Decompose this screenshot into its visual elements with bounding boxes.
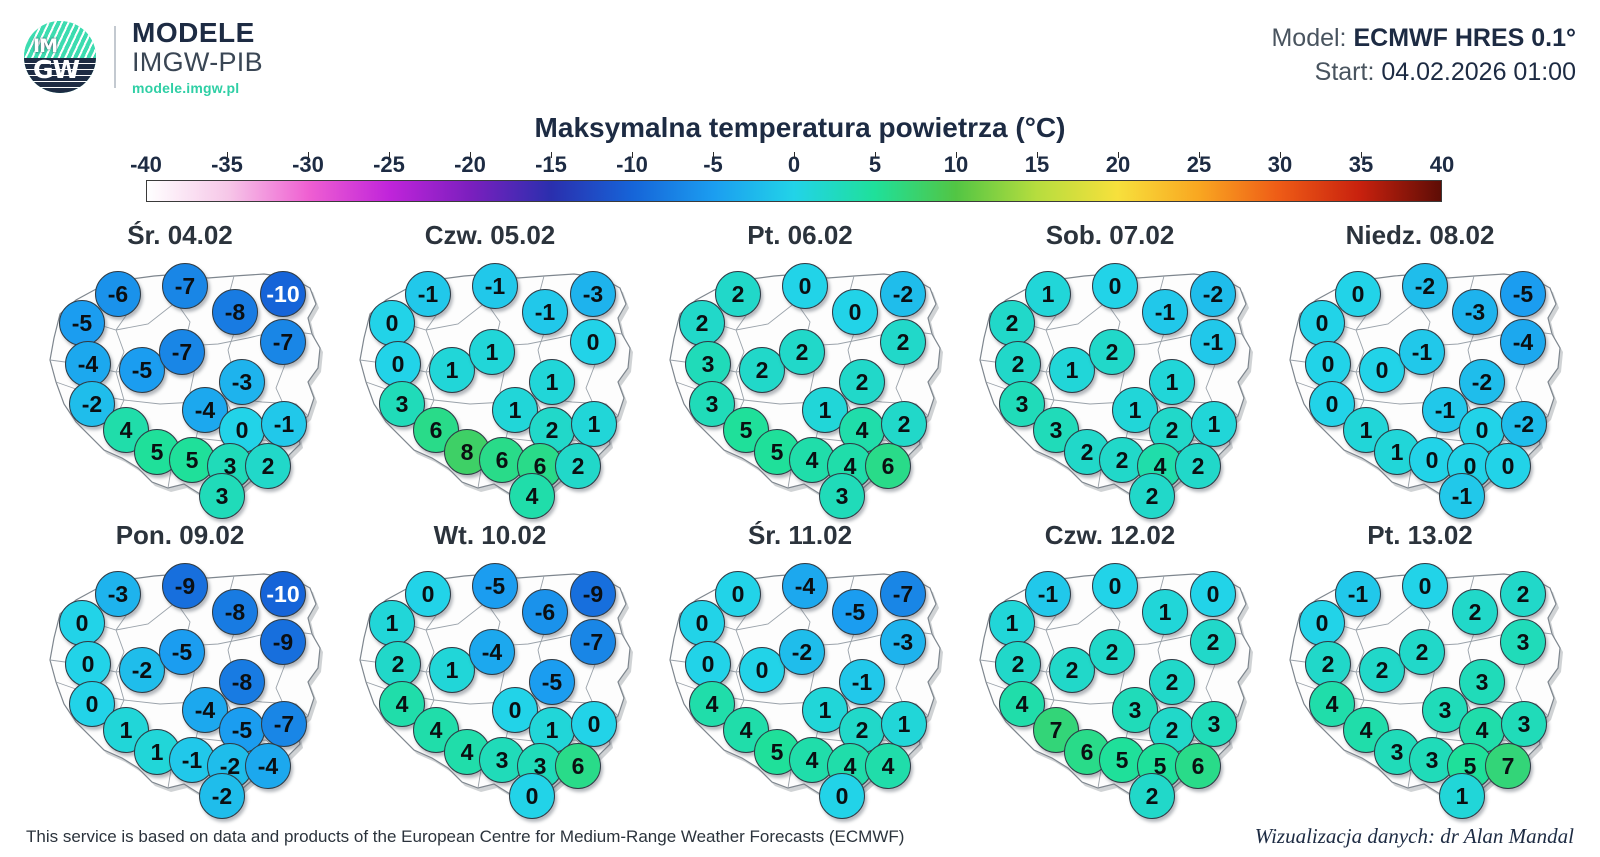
temperature-marker[interactable]: 2 [779, 329, 825, 375]
forecast-panel: Pt. 13.02-10202322234343433571 [1260, 518, 1580, 808]
temperature-marker[interactable]: 0 [1190, 571, 1236, 617]
colorbar-tickmark [956, 152, 957, 158]
temperature-marker[interactable]: 2 [880, 319, 926, 365]
temperature-marker[interactable]: 1 [469, 329, 515, 375]
colorbar-tick: -40 [130, 152, 162, 178]
temperature-marker[interactable]: 2 [1305, 641, 1351, 687]
forecast-panel: Niedz. 08.020-2-50-3-400-1-20-10-211000-… [1260, 218, 1580, 508]
panel-day-title: Czw. 05.02 [330, 218, 650, 252]
footer-visualization-credit: Wizualizacja danych: dr Alan Mandal [1255, 824, 1574, 849]
temperature-marker[interactable]: 2 [715, 271, 761, 317]
panel-day-title: Śr. 11.02 [640, 518, 960, 552]
temperature-marker[interactable]: -5 [59, 300, 105, 346]
poland-map: -10011222224323765562 [950, 552, 1270, 802]
temperature-marker[interactable]: 6 [1175, 743, 1221, 789]
imgw-circle-logo-icon: IM GW [24, 21, 96, 93]
poland-map: -6-7-10-5-8-7-4-5-7-3-2-40-1455323 [20, 252, 340, 502]
temperature-marker[interactable]: -2 [1402, 263, 1448, 309]
temperature-marker[interactable]: 2 [881, 401, 927, 447]
temperature-marker[interactable]: -9 [162, 563, 208, 609]
poland-map: -1-1-30-1001113121686624 [330, 252, 650, 502]
temperature-marker[interactable]: 0 [1305, 341, 1351, 387]
temperature-marker[interactable]: 1 [369, 600, 415, 646]
temperature-marker[interactable]: 0 [59, 600, 105, 646]
temperature-marker[interactable]: -3 [1452, 289, 1498, 335]
temperature-marker[interactable]: 0 [715, 571, 761, 617]
colorbar-tickmark [875, 152, 876, 158]
panel-day-title: Niedz. 08.02 [1260, 218, 1580, 252]
poland-map: 0-2-50-3-400-1-20-10-211000-1 [1260, 252, 1580, 502]
temperature-marker[interactable]: -2 [199, 773, 245, 819]
panel-day-title: Sob. 07.02 [950, 218, 1270, 252]
colorbar-tickmark [632, 152, 633, 158]
temperature-marker[interactable]: 2 [1129, 773, 1175, 819]
temperature-marker[interactable]: -2 [1501, 401, 1547, 447]
colorbar-tickmark [1199, 152, 1200, 158]
temperature-marker[interactable]: -10 [260, 271, 306, 317]
temperature-marker[interactable]: 4 [509, 473, 555, 519]
poland-map: 0-5-91-6-721-4-54010443360 [330, 552, 650, 802]
temperature-marker[interactable]: 3 [199, 473, 245, 519]
temperature-marker[interactable]: 0 [679, 600, 725, 646]
temperature-marker[interactable]: -2 [1459, 359, 1505, 405]
temperature-marker[interactable]: 1 [529, 359, 575, 405]
temperature-marker[interactable]: -1 [1399, 329, 1445, 375]
colorbar-tickmark [227, 152, 228, 158]
temperature-marker[interactable]: 0 [1335, 271, 1381, 317]
temperature-marker[interactable]: 3 [1500, 619, 1546, 665]
colorbar-tickmark [389, 152, 390, 158]
temperature-marker[interactable]: 3 [685, 341, 731, 387]
temperature-marker[interactable]: -8 [219, 659, 265, 705]
temperature-marker[interactable]: -3 [95, 571, 141, 617]
temperature-marker[interactable]: 0 [685, 641, 731, 687]
start-label: Start: [1315, 58, 1375, 86]
temperature-marker[interactable]: -7 [162, 263, 208, 309]
temperature-marker[interactable]: -5 [159, 629, 205, 675]
temperature-marker[interactable]: 6 [555, 743, 601, 789]
temperature-marker[interactable]: -3 [219, 359, 265, 405]
temperature-marker[interactable]: 0 [65, 641, 111, 687]
colorbar-tickmark [1037, 152, 1038, 158]
forecast-panel: Czw. 05.02-1-1-30-1001113121686624 [330, 218, 650, 508]
colorbar-tickmark [713, 152, 714, 158]
temperature-marker[interactable]: -7 [570, 619, 616, 665]
panel-day-title: Czw. 12.02 [950, 518, 1270, 552]
model-metadata: Model: ECMWF HRES 0.1° Start: 04.02.2026… [1271, 22, 1576, 90]
temperature-marker[interactable]: 3 [1501, 701, 1547, 747]
temperature-marker[interactable]: 1 [989, 600, 1035, 646]
temperature-marker[interactable]: 2 [839, 359, 885, 405]
poland-map: 0-4-70-5-300-2-14121454440 [640, 552, 960, 802]
temperature-marker[interactable]: -2 [1190, 271, 1236, 317]
colorbar-tickmark [308, 152, 309, 158]
temperature-marker[interactable]: 0 [571, 701, 617, 747]
colorbar-tick: 40 [1430, 152, 1454, 178]
temperature-marker[interactable]: 2 [679, 300, 725, 346]
temperature-marker[interactable]: 2 [1089, 329, 1135, 375]
temperature-marker[interactable]: 2 [1149, 659, 1195, 705]
temperature-marker[interactable]: -1 [1025, 571, 1071, 617]
temperature-marker[interactable]: -1 [472, 263, 518, 309]
temperature-marker[interactable]: -4 [469, 629, 515, 675]
temperature-marker[interactable]: -1 [522, 289, 568, 335]
temperature-marker[interactable]: 2 [1190, 619, 1236, 665]
temperature-marker[interactable]: 4 [865, 743, 911, 789]
start-row: Start: 04.02.2026 01:00 [1271, 56, 1576, 90]
poland-map: 20-220232223142554463 [640, 252, 960, 502]
temperature-marker[interactable]: -7 [159, 329, 205, 375]
forecast-panel: Pon. 09.02-3-9-100-8-90-2-5-80-4-5-711-1… [20, 518, 340, 808]
forecast-panel: Czw. 12.02-10011222224323765562 [950, 518, 1270, 808]
logo-badge-im-text: IM [33, 35, 57, 57]
temperature-marker[interactable]: -1 [1142, 289, 1188, 335]
temperature-marker[interactable]: 0 [832, 289, 878, 335]
model-label: Model: [1271, 24, 1346, 52]
temperature-marker[interactable]: 2 [1452, 589, 1498, 635]
model-row: Model: ECMWF HRES 0.1° [1271, 22, 1576, 56]
panel-day-title: Wt. 10.02 [330, 518, 650, 552]
panel-day-title: Pt. 06.02 [640, 218, 960, 252]
temperature-marker[interactable]: 0 [509, 773, 555, 819]
temperature-marker[interactable]: -1 [1439, 473, 1485, 519]
temperature-marker[interactable]: 1 [1149, 359, 1195, 405]
temperature-marker[interactable]: -2 [779, 629, 825, 675]
temperature-marker[interactable]: 0 [819, 773, 865, 819]
temperature-marker[interactable]: -8 [212, 289, 258, 335]
colorbar-gradient [146, 180, 1442, 202]
colorbar-tickmark [1280, 152, 1281, 158]
temperature-marker[interactable]: -1 [839, 659, 885, 705]
panel-day-title: Pt. 13.02 [1260, 518, 1580, 552]
temperature-marker[interactable]: 1 [1025, 271, 1071, 317]
temperature-marker[interactable]: -4 [1500, 319, 1546, 365]
brand-line-imgw-pib: IMGW-PIB [132, 47, 263, 77]
temperature-marker[interactable]: 0 [1402, 563, 1448, 609]
colorbar-tickmark [1361, 152, 1362, 158]
temperature-marker[interactable]: -7 [260, 319, 306, 365]
temperature-marker[interactable]: 0 [375, 341, 421, 387]
temperature-marker[interactable]: 0 [1299, 600, 1345, 646]
temperature-marker[interactable]: 2 [555, 443, 601, 489]
temperature-marker[interactable]: -9 [570, 571, 616, 617]
temperature-marker[interactable]: 1 [1191, 401, 1237, 447]
poland-map: 10-22-1-121213121322422 [950, 252, 1270, 502]
temperature-marker[interactable]: -3 [570, 271, 616, 317]
colorbar-legend: -40-35-30-25-20-15-10-50510152025303540 [146, 152, 1442, 202]
temperature-marker[interactable]: -5 [472, 563, 518, 609]
temperature-marker[interactable]: 2 [375, 641, 421, 687]
model-value: ECMWF HRES 0.1° [1353, 24, 1576, 52]
colorbar-tickmark [1118, 152, 1119, 158]
temperature-marker[interactable]: 1 [881, 701, 927, 747]
chart-title: Maksymalna temperatura powietrza (°C) [0, 112, 1600, 144]
temperature-marker[interactable]: 7 [1485, 743, 1531, 789]
start-value: 04.02.2026 01:00 [1381, 58, 1576, 86]
temperature-marker[interactable]: 3 [819, 473, 865, 519]
colorbar-tickmark [470, 152, 471, 158]
temperature-marker[interactable]: 2 [1089, 629, 1135, 675]
temperature-marker[interactable]: 2 [995, 641, 1041, 687]
temperature-marker[interactable]: 2 [1399, 629, 1445, 675]
temperature-marker[interactable]: 2 [245, 443, 291, 489]
temperature-marker[interactable]: 1 [1439, 773, 1485, 819]
panel-day-title: Pon. 09.02 [20, 518, 340, 552]
temperature-marker[interactable]: -7 [880, 571, 926, 617]
temperature-marker[interactable]: 0 [405, 571, 451, 617]
temperature-marker[interactable]: 2 [989, 300, 1035, 346]
temperature-marker[interactable]: -5 [529, 659, 575, 705]
logo-badge-gw-text: GW [33, 55, 79, 84]
temperature-marker[interactable]: 0 [1485, 443, 1531, 489]
temperature-marker[interactable]: 0 [782, 263, 828, 309]
temperature-marker[interactable]: 1 [571, 401, 617, 447]
temperature-marker[interactable]: 3 [1459, 659, 1505, 705]
panel-day-title: Śr. 04.02 [20, 218, 340, 252]
temperature-marker[interactable]: -8 [212, 589, 258, 635]
forecast-panel: Śr. 04.02-6-7-10-5-8-7-4-5-7-3-2-40-1455… [20, 218, 340, 508]
temperature-marker[interactable]: -3 [880, 619, 926, 665]
temperature-marker[interactable]: -1 [1335, 571, 1381, 617]
temperature-marker[interactable]: 2 [995, 341, 1041, 387]
temperature-marker[interactable]: 1 [1142, 589, 1188, 635]
forecast-panel: Śr. 11.020-4-70-5-300-2-14121454440 [640, 518, 960, 808]
temperature-marker[interactable]: 2 [1129, 473, 1175, 519]
forecast-panel: Pt. 06.0220-220232223142554463 [640, 218, 960, 508]
temperature-marker[interactable]: -6 [522, 589, 568, 635]
colorbar-tickmark [794, 152, 795, 158]
temperature-marker[interactable]: 0 [369, 300, 415, 346]
forecast-panel: Sob. 07.0210-22-1-121213121322422 [950, 218, 1270, 508]
temperature-marker[interactable]: -7 [261, 701, 307, 747]
footer-attribution-ecmwf: This service is based on data and produc… [26, 827, 904, 847]
brand-website-link[interactable]: modele.imgw.pl [132, 80, 263, 96]
poland-map: -10202322234343433571 [1260, 552, 1580, 802]
temperature-marker[interactable]: 3 [1191, 701, 1237, 747]
temperature-marker[interactable]: -2 [880, 271, 926, 317]
temperature-marker[interactable]: 2 [1175, 443, 1221, 489]
temperature-marker[interactable]: 2 [1500, 571, 1546, 617]
temperature-marker[interactable]: -4 [65, 341, 111, 387]
temperature-marker[interactable]: -1 [405, 271, 451, 317]
brand-line-modele: MODELE [132, 18, 263, 47]
temperature-marker[interactable]: -9 [260, 619, 306, 665]
temperature-marker[interactable]: 0 [1092, 263, 1138, 309]
page-header: IM GW MODELE IMGW-PIB modele.imgw.pl Mod… [0, 0, 1600, 108]
temperature-marker[interactable]: -6 [95, 271, 141, 317]
temperature-marker[interactable]: -1 [261, 401, 307, 447]
temperature-marker[interactable]: 0 [1092, 563, 1138, 609]
temperature-marker[interactable]: -4 [245, 743, 291, 789]
poland-map: -3-9-100-8-90-2-5-80-4-5-711-1-2-4-2 [20, 552, 340, 802]
forecast-panel: Wt. 10.020-5-91-6-721-4-54010443360 [330, 518, 650, 808]
temperature-marker[interactable]: -5 [832, 589, 878, 635]
temperature-marker[interactable]: 0 [570, 319, 616, 365]
temperature-marker[interactable]: -1 [1190, 319, 1236, 365]
temperature-marker[interactable]: 0 [1299, 300, 1345, 346]
logo-divider [114, 26, 116, 88]
temperature-marker[interactable]: -5 [1500, 271, 1546, 317]
temperature-marker[interactable]: -4 [782, 563, 828, 609]
temperature-marker[interactable]: -10 [260, 571, 306, 617]
brand-text: MODELE IMGW-PIB modele.imgw.pl [132, 18, 263, 96]
temperature-marker[interactable]: 6 [865, 443, 911, 489]
colorbar-tickmark [551, 152, 552, 158]
brand-logo-block: IM GW MODELE IMGW-PIB modele.imgw.pl [24, 18, 263, 96]
